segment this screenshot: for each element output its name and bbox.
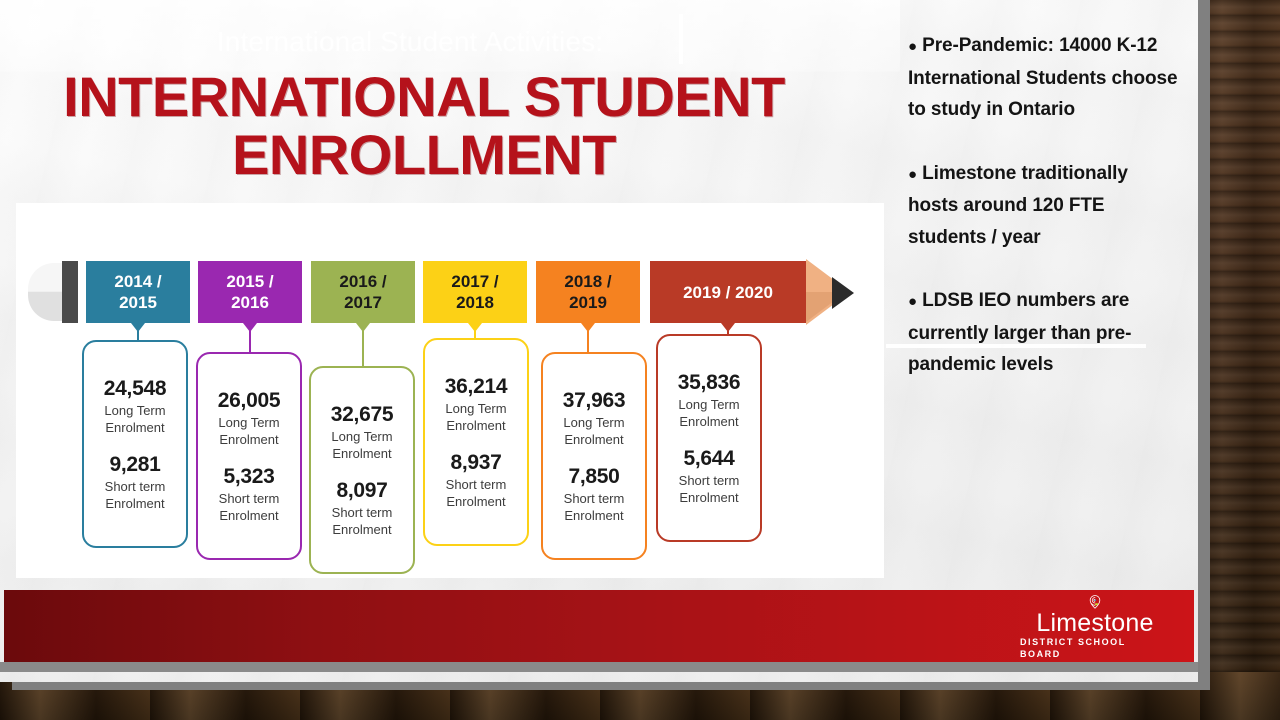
year-tab[interactable]: 2016 / 2017 xyxy=(311,261,415,323)
title-block: International Student Activities: INTERN… xyxy=(0,0,900,196)
year-tab[interactable]: 2019 / 2020 xyxy=(650,261,806,323)
bullet-dot-icon: ● xyxy=(908,293,917,310)
year-tab[interactable]: 2018 / 2019 xyxy=(536,261,640,323)
key-point: ● Pre-Pandemic: 14000 K-12 International… xyxy=(908,30,1180,126)
short-term-label: Short term Enrolment xyxy=(219,490,280,524)
long-term-label: Long Term Enrolment xyxy=(678,396,739,430)
long-term-label: Long Term Enrolment xyxy=(218,414,279,448)
short-term-label: Short term Enrolment xyxy=(446,476,507,510)
connector-stem xyxy=(137,330,139,340)
key-point: ● LDSB IEO numbers are currently larger … xyxy=(908,285,1180,381)
key-point-text: Limestone traditionally hosts around 120… xyxy=(908,163,1128,248)
bullet-dot-icon: ● xyxy=(908,166,917,183)
key-point-text: Pre-Pandemic: 14000 K-12 International S… xyxy=(908,35,1177,120)
key-points-list: ● Pre-Pandemic: 14000 K-12 International… xyxy=(908,30,1180,413)
year-tab[interactable]: 2014 / 2015 xyxy=(86,261,190,323)
year-tab-label: 2018 / 2019 xyxy=(564,271,611,313)
short-term-label: Short term Enrolment xyxy=(332,504,393,538)
connector-stem xyxy=(249,330,251,352)
short-term-label: Short term Enrolment xyxy=(564,490,625,524)
year-tab-label: 2015 / 2016 xyxy=(226,271,273,313)
connector-stem xyxy=(362,330,364,366)
short-term-value: 5,644 xyxy=(683,446,734,472)
long-term-value: 37,963 xyxy=(563,388,625,414)
bullet-dot-icon: ● xyxy=(908,38,917,55)
year-tab-label: 2016 / 2017 xyxy=(339,271,386,313)
short-term-label: Short term Enrolment xyxy=(679,472,740,506)
enrollment-card[interactable]: 37,963Long Term Enrolment7,850Short term… xyxy=(541,352,647,560)
short-term-value: 5,323 xyxy=(223,464,274,490)
long-term-value: 36,214 xyxy=(445,374,507,400)
map-pin-spiral-icon xyxy=(1075,594,1115,610)
enrollment-card[interactable]: 36,214Long Term Enrolment8,937Short term… xyxy=(423,338,529,546)
short-term-value: 9,281 xyxy=(109,452,160,478)
logo-tagline: DISTRICT SCHOOL BOARD xyxy=(1020,636,1170,660)
short-term-value: 8,937 xyxy=(450,450,501,476)
long-term-label: Long Term Enrolment xyxy=(445,400,506,434)
enrollment-card[interactable]: 35,836Long Term Enrolment5,644Short term… xyxy=(656,334,762,542)
key-point-text: LDSB IEO numbers are currently larger th… xyxy=(908,290,1131,375)
short-term-label: Short term Enrolment xyxy=(105,478,166,512)
long-term-value: 35,836 xyxy=(678,370,740,396)
presentation-slide: International Student Activities: INTERN… xyxy=(0,0,1198,682)
connector-stem xyxy=(587,330,589,352)
connector-stem xyxy=(474,330,476,338)
limestone-logo: Limestone DISTRICT SCHOOL BOARD xyxy=(1020,594,1170,660)
enrollment-card[interactable]: 24,548Long Term Enrolment9,281Short term… xyxy=(82,340,188,548)
short-term-value: 7,850 xyxy=(568,464,619,490)
slide-eyebrow: International Student Activities: xyxy=(0,26,820,58)
long-term-value: 26,005 xyxy=(218,388,280,414)
year-tab[interactable]: 2015 / 2016 xyxy=(198,261,302,323)
pencil-ferrule-icon xyxy=(62,261,78,323)
long-term-label: Long Term Enrolment xyxy=(563,414,624,448)
footer-underline xyxy=(0,662,1198,672)
year-tab-label: 2019 / 2020 xyxy=(683,282,773,303)
logo-wordmark: Limestone xyxy=(1036,611,1153,636)
year-tab-label: 2014 / 2015 xyxy=(114,271,161,313)
year-tab-label: 2017 / 2018 xyxy=(451,271,498,313)
page-title: INTERNATIONAL STUDENT ENROLLMENT xyxy=(24,68,824,184)
year-tab[interactable]: 2017 / 2018 xyxy=(423,261,527,323)
pencil-lead-icon xyxy=(832,277,854,309)
long-term-label: Long Term Enrolment xyxy=(331,428,392,462)
long-term-label: Long Term Enrolment xyxy=(104,402,165,436)
key-point: ● Limestone traditionally hosts around 1… xyxy=(908,158,1180,254)
long-term-value: 24,548 xyxy=(104,376,166,402)
long-term-value: 32,675 xyxy=(331,402,393,428)
footer-bar xyxy=(4,590,1194,662)
enrollment-card[interactable]: 26,005Long Term Enrolment5,323Short term… xyxy=(196,352,302,560)
enrollment-card[interactable]: 32,675Long Term Enrolment8,097Short term… xyxy=(309,366,415,574)
short-term-value: 8,097 xyxy=(336,478,387,504)
